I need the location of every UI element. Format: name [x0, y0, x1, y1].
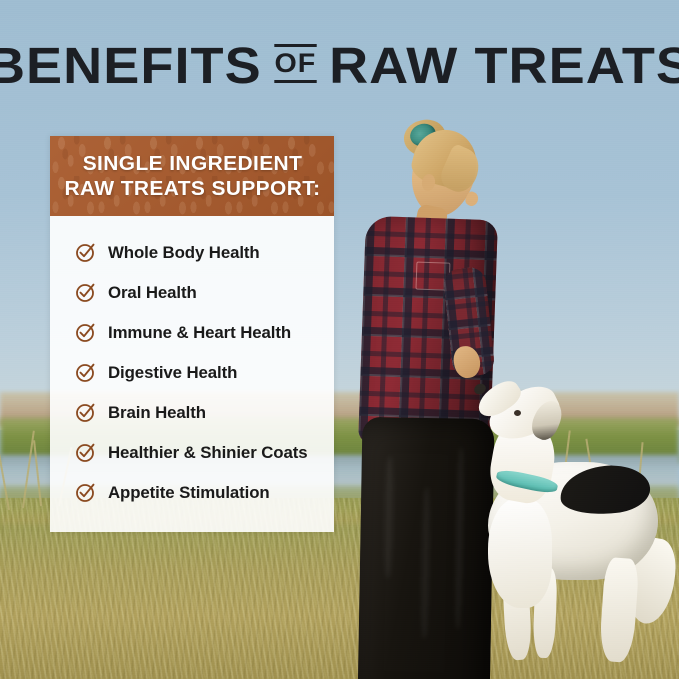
benefit-label: Oral Health: [108, 284, 197, 303]
benefit-item: Appetite Stimulation: [50, 473, 334, 513]
check-circle-icon: [75, 283, 95, 303]
benefit-item: Healthier & Shinier Coats: [50, 433, 334, 473]
card-header: SINGLE INGREDIENT RAW TREATS SUPPORT:: [50, 136, 334, 216]
benefits-card: SINGLE INGREDIENT RAW TREATS SUPPORT: Wh…: [50, 136, 334, 532]
title-rule-top: [274, 44, 316, 47]
benefit-item: Digestive Health: [50, 353, 334, 393]
poster-title: BENEFITSOFRAW TREATS: [0, 36, 679, 92]
dog-figure: [452, 388, 679, 679]
card-header-line-2: RAW TREATS SUPPORT:: [64, 176, 320, 201]
card-header-line-1: SINGLE INGREDIENT: [64, 151, 320, 176]
title-connector-wrap: OF: [272, 41, 318, 86]
title-rule-bottom: [274, 80, 316, 83]
title-connector: OF: [274, 48, 316, 78]
check-circle-icon: [75, 363, 95, 383]
title-part-1: BENEFITS: [0, 40, 262, 92]
benefit-item: Oral Health: [50, 273, 334, 313]
benefit-label: Healthier & Shinier Coats: [108, 444, 307, 463]
dog-chest: [488, 498, 552, 608]
benefit-label: Appetite Stimulation: [108, 484, 270, 503]
dog-eye: [514, 410, 521, 416]
pants-fold: [384, 457, 394, 577]
title-part-2: RAW TREATS: [329, 40, 679, 92]
benefit-label: Whole Body Health: [108, 244, 260, 263]
benefit-item: Brain Health: [50, 393, 334, 433]
check-circle-icon: [75, 323, 95, 343]
benefit-label: Immune & Heart Health: [108, 324, 291, 343]
benefits-list: Whole Body Health Oral Health: [50, 216, 334, 532]
benefit-item: Immune & Heart Health: [50, 313, 334, 353]
benefit-item: Whole Body Health: [50, 233, 334, 273]
check-circle-icon: [75, 483, 95, 503]
check-circle-icon: [75, 403, 95, 423]
poster-canvas: BENEFITSOFRAW TREATS SINGLE INGREDIENT R…: [0, 0, 679, 679]
check-circle-icon: [75, 243, 95, 263]
benefit-label: Brain Health: [108, 404, 206, 423]
card-header-text: SINGLE INGREDIENT RAW TREATS SUPPORT:: [64, 151, 320, 201]
pants-fold: [421, 488, 431, 638]
check-circle-icon: [75, 443, 95, 463]
benefit-label: Digestive Health: [108, 364, 237, 383]
